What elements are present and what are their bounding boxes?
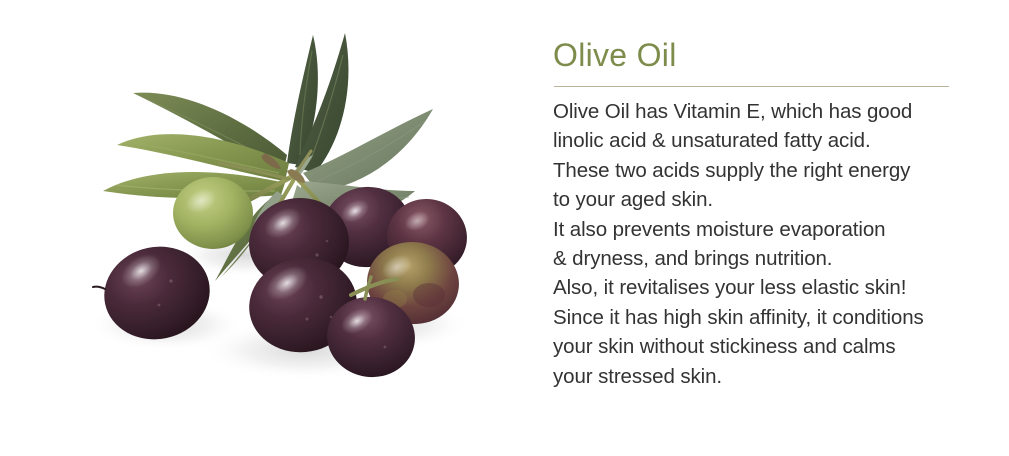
description-line: to your aged skin.	[553, 185, 993, 214]
description-line: Olive Oil has Vitamin E, which has good	[553, 97, 993, 126]
olive-branch-photo	[55, 5, 495, 405]
title-divider	[554, 86, 949, 87]
olive-fruit-green	[173, 177, 253, 249]
description-line: It also prevents moisture evaporation	[553, 215, 993, 244]
text-panel: Olive Oil Olive Oil has Vitamin E, which…	[553, 0, 993, 456]
photo-panel	[0, 0, 510, 456]
description-line: Since it has high skin affinity, it cond…	[553, 303, 993, 332]
olive-oil-info-card: Olive Oil Olive Oil has Vitamin E, which…	[0, 0, 1009, 456]
description-line: Also, it revitalises your less elastic s…	[553, 273, 993, 302]
description-line: your skin without stickiness and calms	[553, 332, 993, 361]
description-line: linolic acid & unsaturated fatty acid.	[553, 126, 993, 155]
page-title: Olive Oil	[553, 38, 677, 74]
description-line: These two acids supply the right energy	[553, 156, 993, 185]
description-line: your stressed skin.	[553, 362, 993, 391]
product-description: Olive Oil has Vitamin E, which has good …	[553, 97, 993, 391]
description-line: & dryness, and brings nutrition.	[553, 244, 993, 273]
